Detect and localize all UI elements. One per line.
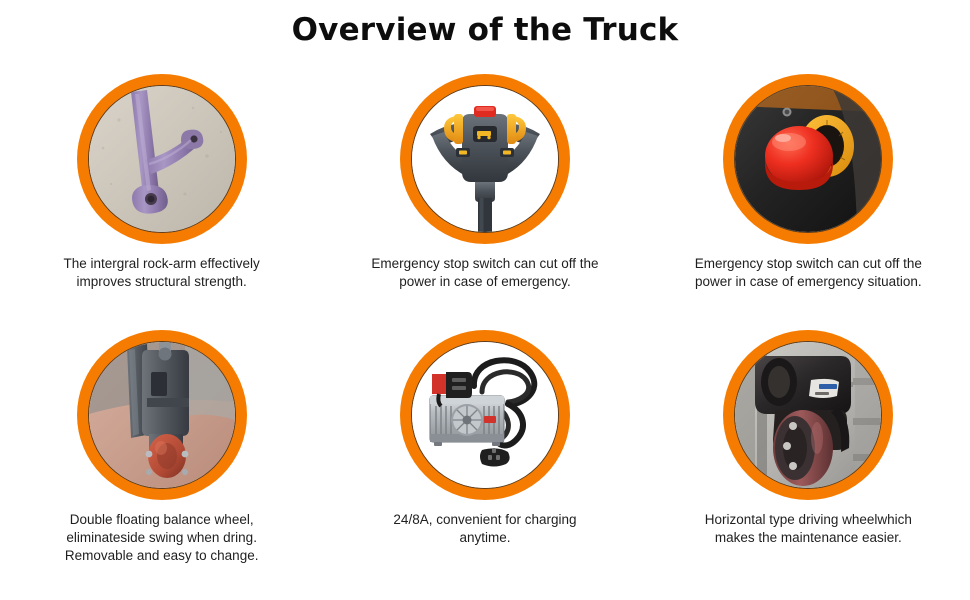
feature-caption-emergency-stop: Emergency stop switch can cut off the po… [692,255,924,291]
feature-cell-balance-wheel: Double floating balance wheel, eliminate… [0,330,323,586]
charger-photo [412,342,558,488]
page-title: Overview of the Truck [0,12,970,48]
feature-grid: The intergral rock-arm effectively impro… [0,74,970,586]
feature-caption-charger: 24/8A, convenient for charging anytime. [369,511,601,547]
balance-wheel-photo [89,342,235,488]
photo-ring-emergency-stop [723,74,893,244]
feature-cell-drive-wheel: Horizontal type driving wheelwhich makes… [647,330,970,586]
photo-ring-charger [400,330,570,500]
feature-cell-charger: 24/8A, convenient for charging anytime. [323,330,646,586]
feature-caption-rock-arm: The intergral rock-arm effectively impro… [46,255,278,291]
feature-cell-rock-arm: The intergral rock-arm effectively impro… [0,74,323,330]
feature-cell-emergency-stop: Emergency stop switch can cut off the po… [647,74,970,330]
feature-overview-page: Overview of the Truck [0,0,970,600]
tiller-head-photo [412,86,558,232]
feature-caption-balance-wheel: Double floating balance wheel, eliminate… [46,511,278,565]
feature-caption-tiller-head: Emergency stop switch can cut off the po… [369,255,601,291]
feature-caption-drive-wheel: Horizontal type driving wheelwhich makes… [692,511,924,547]
photo-ring-balance-wheel [77,330,247,500]
photo-ring-rock-arm [77,74,247,244]
drive-wheel-photo [735,342,881,488]
feature-cell-tiller-head: Emergency stop switch can cut off the po… [323,74,646,330]
emergency-stop-closeup-photo [735,86,881,232]
rock-arm-photo [89,86,235,232]
photo-ring-drive-wheel [723,330,893,500]
photo-ring-tiller-head [400,74,570,244]
